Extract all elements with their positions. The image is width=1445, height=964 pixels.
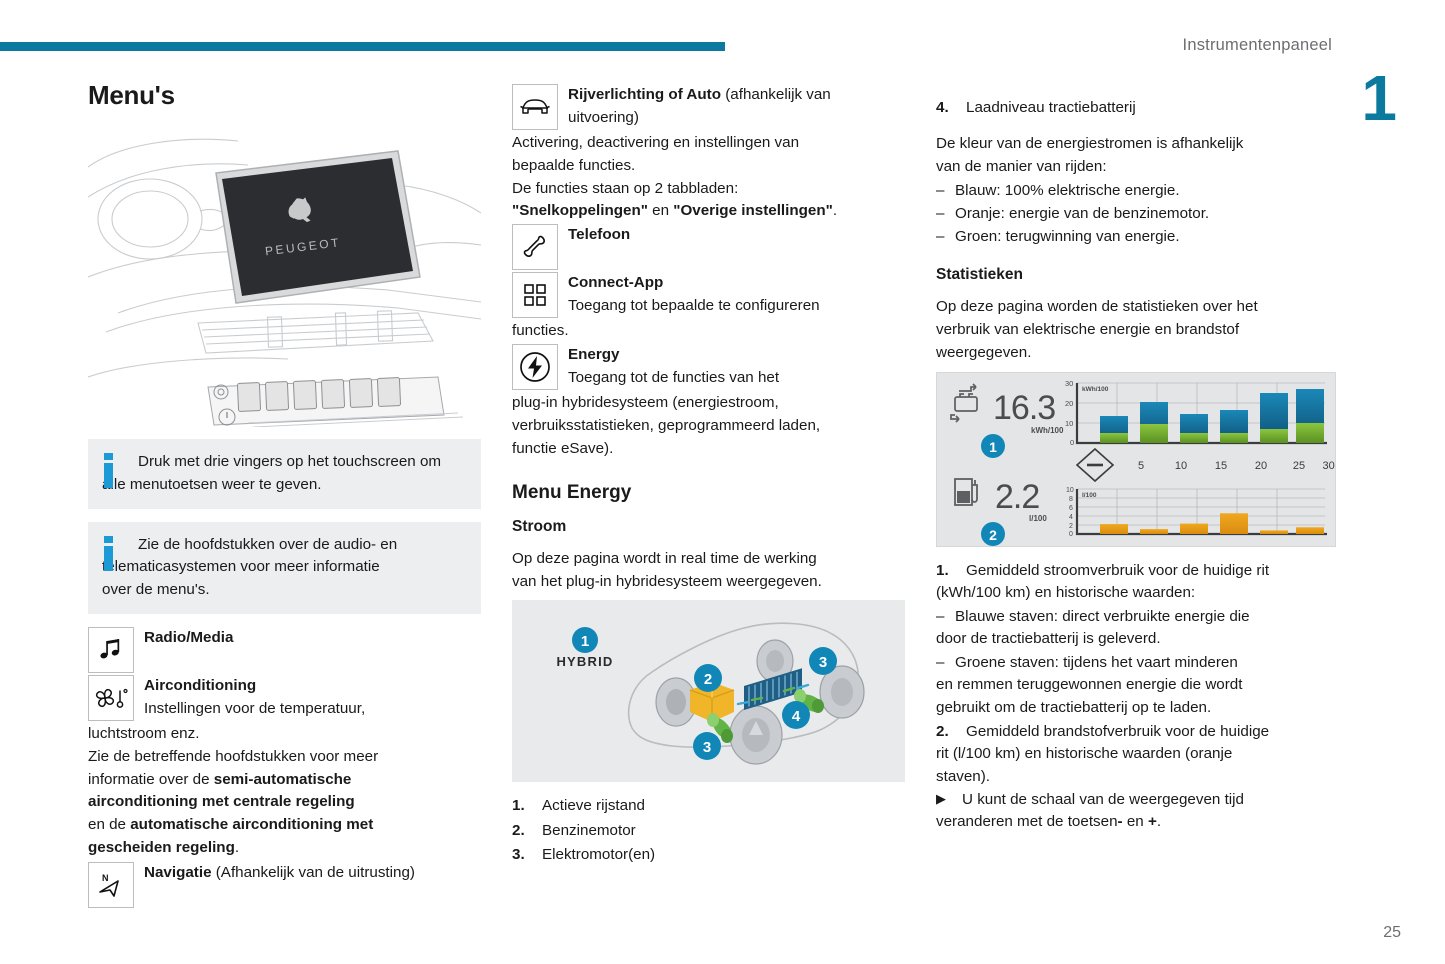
note-line-1: Gemiddeld stroomverbruik voor de huidige… xyxy=(966,562,1269,579)
bullet-groen: –Groen: terugwinning van energie. xyxy=(936,225,1336,248)
note-line-2: (kWh/100 km) en historische waarden: xyxy=(936,584,1195,601)
aircon-line-5: . xyxy=(235,839,239,856)
page-title: Menu's xyxy=(88,80,481,111)
svg-text:10: 10 xyxy=(1065,419,1073,428)
navigation-arrow-icon: N xyxy=(88,862,134,908)
tab-join: en xyxy=(648,202,673,219)
page-header-title: Instrumentenpaneel xyxy=(1183,36,1332,55)
svg-text:3: 3 xyxy=(819,654,827,671)
info-note-touchscreen: Druk met drie vingers op het touchscreen… xyxy=(88,439,481,509)
aircon-bold-2: airconditioning met centrale regeling xyxy=(88,793,355,810)
bullet-oranje: –Oranje: energie van de benzinemotor. xyxy=(936,202,1336,225)
menu-item-line2: uitvoering) xyxy=(568,109,639,126)
list-item: 2.Benzinemotor xyxy=(512,819,905,844)
note-line-1: Gemiddeld brandstofverbruik voor de huid… xyxy=(966,723,1269,740)
menu-item-telefoon-text: Telefoon xyxy=(512,224,905,270)
menu-item-radio-media[interactable]: Radio/Media xyxy=(88,627,481,675)
subsection-heading-statistieken: Statistieken xyxy=(936,266,1336,284)
info-note-text: Druk met drie vingers op het touchscreen… xyxy=(102,451,467,497)
bullet-blauwe-staven-cont: door de tractiebatterij is geleverd. xyxy=(936,628,1336,651)
menu-item-navigatie[interactable]: N Navigatie (Afhankelijk van de uitrusti… xyxy=(88,862,481,910)
menu-item-desc: (Afhankelijk van de uitrusting) xyxy=(212,864,415,881)
energy-line-2: verbruiksstatistieken, geprogrammeerd la… xyxy=(512,417,820,434)
legend-item-number: 4. xyxy=(936,96,949,119)
menu-item-navigatie-text: Navigatie (Afhankelijk van de uitrusting… xyxy=(88,862,481,908)
column-left: Menu's xyxy=(88,80,481,910)
svg-text:2.2: 2.2 xyxy=(995,478,1039,516)
energy-line-3: functie eSave). xyxy=(512,440,613,457)
aircon-line-1: luchtstroom enz. xyxy=(88,725,199,742)
list-item-label: Actieve rijstand xyxy=(542,797,645,814)
plus-key-label: + xyxy=(1148,813,1157,830)
svg-text:l/100: l/100 xyxy=(1029,514,1047,523)
connect-flow-line: functies. xyxy=(512,322,569,339)
energy-description: plug-in hybridesysteem (energiestroom, v… xyxy=(512,392,905,460)
info-note-text: Zie de hoofdstukken over de audio- en te… xyxy=(102,534,467,580)
bullet-label: Groen: terugwinning van energie. xyxy=(955,228,1180,245)
lights-line-3: De functies staan op 2 tabbladen: xyxy=(512,180,738,197)
list-item: 1.Actieve rijstand xyxy=(512,794,905,819)
dash-marker: – xyxy=(936,202,944,225)
column-right: 4.Laadniveau tractiebatterij De kleur va… xyxy=(936,96,1336,834)
note-number: 1. xyxy=(936,559,949,582)
stats-note-1-cont: (kWh/100 km) en historische waarden: xyxy=(936,582,1336,605)
svg-text:6: 6 xyxy=(1069,505,1073,512)
svg-text:20: 20 xyxy=(1255,460,1267,472)
triangle-right-icon: ▶ xyxy=(936,789,946,809)
aircon-bold-1: semi-automatische xyxy=(214,771,352,788)
bullet-blauw: –Blauw: 100% elektrische energie. xyxy=(936,179,1336,202)
aircon-line-4: en de xyxy=(88,816,130,833)
svg-text:2: 2 xyxy=(704,671,712,688)
menu-item-radio-media-text: Radio/Media xyxy=(88,627,481,673)
svg-text:kWh/100: kWh/100 xyxy=(1082,386,1109,393)
stats-note-1: 1.Gemiddeld stroomverbruik voor de huidi… xyxy=(936,559,1336,582)
menu-item-connect-app-text: Connect-App Toegang tot bepaalde te conf… xyxy=(512,272,905,318)
bullet-line-1: Groene staven: tijdens het vaart mindere… xyxy=(955,654,1238,671)
bullet-line-3: gebruikt om de tractiebatterij op te lad… xyxy=(936,699,1211,716)
svg-text:30: 30 xyxy=(1065,379,1073,388)
hybrid-diagram-legend: 1.Actieve rijstand 2.Benzinemotor 3.Elek… xyxy=(512,794,905,868)
note-line-2: rit (l/100 km) en historische waarden (o… xyxy=(936,745,1232,762)
header-accent-rule xyxy=(0,42,725,51)
lights-line-2: bepaalde functies. xyxy=(512,157,635,174)
statistieken-intro: Op deze pagina worden de statistieken ov… xyxy=(936,296,1336,364)
svg-text:kWh/100: kWh/100 xyxy=(1031,426,1064,435)
connect-app-flow: functies. xyxy=(512,320,905,343)
svg-text:30 min: 30 min xyxy=(1322,460,1335,472)
menu-item-desc: Toegang tot bepaalde te configureren xyxy=(568,297,820,314)
music-note-icon xyxy=(88,627,134,673)
tab-name-2: "Overige instellingen" xyxy=(673,202,833,219)
dash-marker: – xyxy=(936,605,944,628)
svg-text:15: 15 xyxy=(1215,460,1227,472)
svg-text:l/100: l/100 xyxy=(1082,492,1097,499)
svg-text:4: 4 xyxy=(792,708,801,725)
legend-item-4: 4.Laadniveau tractiebatterij xyxy=(936,96,1336,119)
svg-text:1: 1 xyxy=(581,633,589,650)
list-item-number: 2. xyxy=(512,819,525,844)
stroom-intro: Op deze pagina wordt in real time de wer… xyxy=(512,548,905,594)
tab-name-1: "Snelkoppelingen" xyxy=(512,202,648,219)
svg-text:N: N xyxy=(102,873,109,883)
grid-apps-icon xyxy=(512,272,558,318)
list-item-number: 3. xyxy=(512,843,525,868)
airconditioning-description: luchtstroom enz. Zie de betreffende hoof… xyxy=(88,723,481,860)
bullet-groene-staven-cont: en remmen teruggewonnen energie die word… xyxy=(936,674,1336,720)
menu-item-rijverlichting-text: Rijverlichting of Auto (afhankelijk van … xyxy=(512,84,905,130)
energy-bolt-icon xyxy=(512,344,558,390)
fan-thermometer-icon xyxy=(88,675,134,721)
menu-item-rijverlichting[interactable]: Rijverlichting of Auto (afhankelijk van … xyxy=(512,84,905,132)
dash-marker: – xyxy=(936,179,944,202)
action-line-1: U kunt de schaal van de weergegeven tijd xyxy=(962,791,1244,808)
menu-item-desc: Instellingen voor de temperatuur, xyxy=(144,700,365,717)
menu-item-desc: Toegang tot de functies van het xyxy=(568,369,779,386)
list-item-number: 1. xyxy=(512,794,525,819)
svg-text:16.3: 16.3 xyxy=(993,389,1055,427)
menu-item-energy[interactable]: Energy Toegang tot de functies van het xyxy=(512,344,905,392)
svg-text:0: 0 xyxy=(1070,438,1074,447)
menu-item-connect-app[interactable]: Connect-App Toegang tot bepaalde te conf… xyxy=(512,272,905,320)
menu-item-label: Rijverlichting of Auto xyxy=(568,86,721,103)
menu-item-label: Energy xyxy=(568,346,620,363)
bullet-label: Oranje: energie van de benzinemotor. xyxy=(955,205,1209,222)
menu-item-label: Telefoon xyxy=(568,226,630,243)
info-icon xyxy=(104,453,113,489)
car-front-icon xyxy=(512,84,558,130)
stats-line-1: Op deze pagina worden de statistieken ov… xyxy=(936,298,1258,315)
svg-text:3: 3 xyxy=(703,739,711,756)
menu-item-title-rest: (afhankelijk van xyxy=(721,86,831,103)
legend-item-label: Laadniveau tractiebatterij xyxy=(966,99,1136,116)
action-instruction: ▶ U kunt de schaal van de weergegeven ti… xyxy=(936,789,1336,835)
energy-line-1: plug-in hybridesysteem (energiestroom, xyxy=(512,394,779,411)
lights-line-1: Activering, deactivering en instellingen… xyxy=(512,134,799,151)
tab-end: . xyxy=(833,202,837,219)
bullet-label: Blauw: 100% elektrische energie. xyxy=(955,182,1180,199)
bullet-line-2: door de tractiebatterij is geleverd. xyxy=(936,630,1161,647)
aircon-bold-4: gescheiden regeling xyxy=(88,839,235,856)
svg-text:2: 2 xyxy=(1069,523,1073,530)
action-end: . xyxy=(1157,813,1161,830)
action-line-2: veranderen met de toetsen xyxy=(936,811,1118,834)
chapter-number: 1 xyxy=(1361,66,1397,130)
aircon-line-2: Zie de betreffende hoofdstukken voor mee… xyxy=(88,748,378,765)
info-note-audio: Zie de hoofdstukken over de audio- en te… xyxy=(88,522,481,614)
aircon-bold-3: automatische airconditioning met xyxy=(130,816,373,833)
svg-text:0: 0 xyxy=(1069,531,1073,538)
colors-line-2: van de manier van rijden: xyxy=(936,158,1107,175)
menu-item-label: Connect-App xyxy=(568,274,663,291)
svg-text:10: 10 xyxy=(1066,487,1074,494)
phone-handset-icon xyxy=(512,224,558,270)
dash-marker: – xyxy=(936,225,944,248)
list-item: 3.Elektromotor(en) xyxy=(512,843,905,868)
colors-line-1: De kleur van de energiestromen is afhank… xyxy=(936,135,1243,152)
stats-note-2: 2.Gemiddeld brandstofverbruik voor de hu… xyxy=(936,720,1336,743)
hybrid-energy-flow-diagram: 1 HYBRID 2 3 3 4 xyxy=(512,600,905,782)
svg-text:10: 10 xyxy=(1175,460,1187,472)
menu-item-label: Navigatie xyxy=(144,864,212,881)
list-item-label: Benzinemotor xyxy=(542,822,636,839)
energy-colors-intro: De kleur van de energiestromen is afhank… xyxy=(936,133,1336,179)
info-note-text-cont: over de menu's. xyxy=(102,579,467,602)
stats-note-2-cont: rit (l/100 km) en historische waarden (o… xyxy=(936,743,1336,789)
subsection-heading-stroom: Stroom xyxy=(512,518,905,536)
bullet-groene-staven: –Groene staven: tijdens het vaart minder… xyxy=(936,651,1336,674)
svg-text:25: 25 xyxy=(1293,460,1305,472)
note-number: 2. xyxy=(936,720,949,743)
statistics-screen-figure: 16.3 kWh/100 1 2.2 l/100 2 xyxy=(936,372,1336,547)
stroom-line-1: Op deze pagina wordt in real time de wer… xyxy=(512,550,817,567)
menu-item-airconditioning[interactable]: Airconditioning Instellingen voor de tem… xyxy=(88,675,481,723)
svg-text:4: 4 xyxy=(1069,514,1073,521)
note-line-3: staven). xyxy=(936,768,990,785)
action-join: en xyxy=(1123,813,1148,830)
svg-text:1: 1 xyxy=(989,439,997,455)
list-item-label: Elektromotor(en) xyxy=(542,846,655,863)
svg-text:HYBRID: HYBRID xyxy=(556,654,613,669)
dash-marker: – xyxy=(936,651,944,674)
menu-item-label: Airconditioning xyxy=(144,677,256,694)
bullet-line-2: en remmen teruggewonnen energie die word… xyxy=(936,676,1242,693)
menu-item-energy-text: Energy Toegang tot de functies van het xyxy=(512,344,905,390)
menu-item-label: Radio/Media xyxy=(144,629,233,646)
info-icon xyxy=(104,536,113,572)
page-number: 25 xyxy=(1383,924,1401,942)
menu-item-airconditioning-text: Airconditioning Instellingen voor de tem… xyxy=(88,675,481,721)
svg-text:2: 2 xyxy=(989,527,997,543)
stats-line-3: weergegeven. xyxy=(936,344,1031,361)
svg-text:5: 5 xyxy=(1138,460,1144,472)
bullet-blauwe-staven: –Blauwe staven: direct verbruikte energi… xyxy=(936,605,1336,628)
aircon-line-3: informatie over de xyxy=(88,771,214,788)
column-middle: Rijverlichting of Auto (afhankelijk van … xyxy=(512,84,905,868)
dashboard-touchscreen-illustration: PEUGEOT xyxy=(88,127,481,427)
section-heading-menu-energy: Menu Energy xyxy=(512,482,905,504)
stats-line-2: verbruik van elektrische energie en bran… xyxy=(936,321,1239,338)
menu-item-telefoon[interactable]: Telefoon xyxy=(512,224,905,272)
svg-text:8: 8 xyxy=(1069,496,1073,503)
bullet-line-1: Blauwe staven: direct verbruikte energie… xyxy=(955,608,1250,625)
svg-text:20: 20 xyxy=(1065,399,1073,408)
rijverlichting-description: Activering, deactivering en instellingen… xyxy=(512,132,905,223)
stroom-line-2: van het plug-in hybridesysteem weergegev… xyxy=(512,573,822,590)
